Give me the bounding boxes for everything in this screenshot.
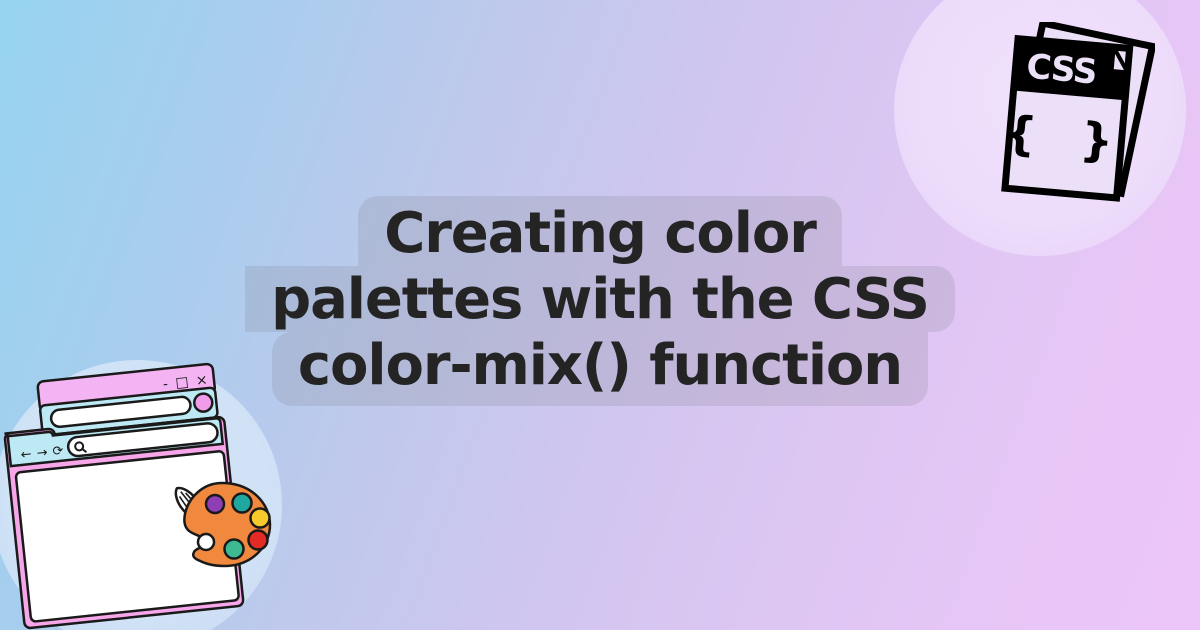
white-swatch xyxy=(198,534,214,550)
browser-window-illustration: - □ × ← → ⟳ xyxy=(2,368,274,630)
purple-swatch xyxy=(206,495,224,513)
css-icon-front-page: CSS { } xyxy=(999,38,1135,198)
headline-line-1: Creating color xyxy=(358,196,841,266)
teal-swatch xyxy=(233,494,252,513)
nav-forward-icon: → xyxy=(36,445,49,461)
nav-back-icon: ← xyxy=(20,447,33,463)
social-card-canvas: CSS { } - □ × xyxy=(0,0,1200,630)
css-icon-braces: { } xyxy=(1002,105,1130,170)
css-icon-label: CSS xyxy=(1025,47,1098,93)
headline-line-3: color-mix() function xyxy=(272,332,928,406)
headline-line-2: palettes with the CSS xyxy=(245,266,955,332)
nav-reload-icon: ⟳ xyxy=(52,444,65,460)
red-swatch xyxy=(249,531,268,550)
css-file-icon: CSS { } xyxy=(995,22,1155,222)
yellow-swatch xyxy=(251,509,270,528)
green-swatch xyxy=(225,540,244,559)
page-title: Creating color palettes with the CSS col… xyxy=(0,196,1200,406)
